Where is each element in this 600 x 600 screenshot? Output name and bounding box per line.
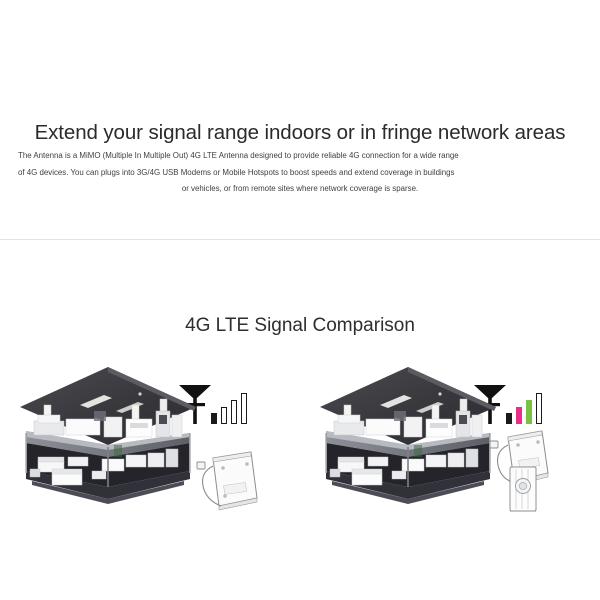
hero-description-line-3: or vehicles, or from remote sites where … <box>18 181 582 198</box>
signal-bar-2 <box>221 407 227 424</box>
signal-bar-2 <box>516 407 522 424</box>
hero-description-line-2: of 4G devices. You can plugs into 3G/4G … <box>18 165 582 182</box>
signal-bar-3 <box>526 400 532 424</box>
signal-bar-3 <box>231 400 237 424</box>
signal-bars-icon <box>211 390 247 424</box>
hero-description-line-1: The Antenna is a MiMO (Multiple In Multi… <box>18 148 582 165</box>
section-title: 4G LTE Signal Comparison <box>0 315 600 337</box>
router-without-antenna-illustration <box>195 436 265 531</box>
signal-bar-4 <box>536 393 542 424</box>
product-detail-page: aliexpress Extend your signal range indo… <box>0 0 600 600</box>
signal-bar-4 <box>241 393 247 424</box>
router-with-panel-antenna-illustration <box>488 423 558 518</box>
signal-bars-icon <box>506 390 542 424</box>
hero-section: Extend your signal range indoors or in f… <box>0 0 600 240</box>
hero-description: The Antenna is a MiMO (Multiple In Multi… <box>18 148 582 198</box>
page-title: Extend your signal range indoors or in f… <box>0 121 600 145</box>
cutaway-house-illustration <box>8 361 208 529</box>
signal-comparison-section: 4G LTE Signal Comparison <box>0 241 600 600</box>
signal-bar-1 <box>211 413 217 424</box>
comparison-panel-with-antenna <box>300 361 600 591</box>
comparison-panel-without-antenna <box>0 361 300 591</box>
cutaway-house-illustration <box>308 361 508 529</box>
